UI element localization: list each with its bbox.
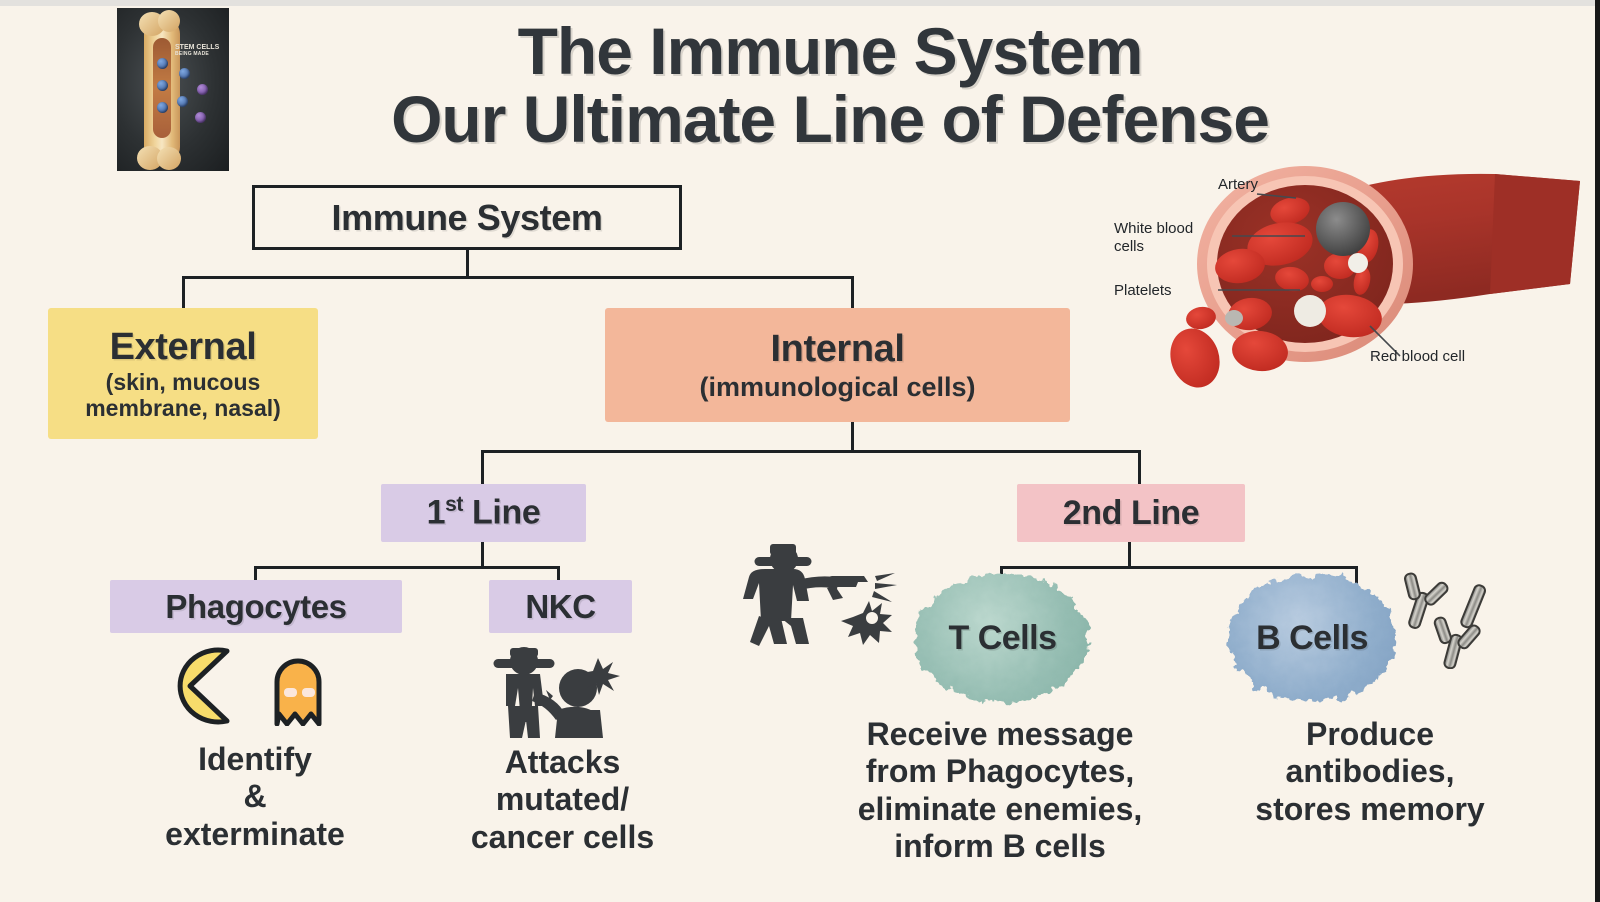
- page-title-line-2: Our Ultimate Line of Defense: [290, 86, 1370, 154]
- connector-to-first-line: [481, 450, 484, 486]
- caption-line: cancer cells: [440, 819, 685, 856]
- connector-second-line-drop: [1128, 542, 1131, 568]
- right-border-strip: [1595, 0, 1600, 902]
- connector-to-internal: [851, 276, 854, 310]
- node-internal[interactable]: Internal (immunological cells): [605, 308, 1070, 422]
- node-immune-system[interactable]: Immune System: [252, 185, 682, 250]
- caption-line: &: [110, 778, 400, 815]
- first-line-word: Line: [463, 494, 540, 532]
- caption-line: mutated/: [440, 781, 685, 818]
- stem-cells-caption: STEM CELLS BEING MADE: [175, 44, 227, 58]
- stem-cell-dot: [177, 96, 188, 107]
- node-t-cells[interactable]: T Cells: [915, 574, 1090, 702]
- node-first-line[interactable]: 1st Line: [381, 484, 586, 542]
- vessel-label-artery: Artery: [1218, 176, 1258, 194]
- node-phagocytes[interactable]: Phagocytes: [110, 580, 402, 633]
- infographic-canvas: STEM CELLS BEING MADE The Immune System …: [0, 6, 1595, 902]
- stem-cell-dot: [157, 80, 168, 91]
- caption-line: eliminate enemies,: [830, 791, 1170, 828]
- caption-line: Attacks: [440, 744, 685, 781]
- node-b-cells[interactable]: B Cells: [1228, 574, 1396, 702]
- node-immune-system-label: Immune System: [332, 197, 603, 239]
- stem-cells-caption-text: STEM CELLS: [175, 44, 219, 51]
- caption-line: Receive message: [830, 716, 1170, 753]
- blood-vessel-illustration: Artery White blood cells Platelets Red b…: [1100, 166, 1595, 416]
- node-external[interactable]: External (skin, mucous membrane, nasal): [48, 308, 318, 439]
- antibody-icon: [1395, 564, 1525, 669]
- node-second-line-label: 2nd Line: [1063, 494, 1200, 533]
- node-external-sublabel: (skin, mucous membrane, nasal): [48, 370, 318, 422]
- stem-cell-dot: [197, 84, 208, 95]
- connector-first-line-bar: [254, 566, 560, 569]
- node-nkc-label: NKC: [525, 588, 595, 626]
- caption-phagocytes: Identify & exterminate: [110, 741, 400, 853]
- page-title: The Immune System Our Ultimate Line of D…: [290, 18, 1370, 154]
- node-external-label: External: [110, 326, 257, 369]
- connector-root-drop: [466, 250, 469, 278]
- shooter-silhouette-icon: [735, 536, 905, 646]
- node-internal-label: Internal: [770, 328, 904, 371]
- caption-line: inform B cells: [830, 828, 1170, 865]
- node-first-line-label: 1st Line: [427, 493, 541, 532]
- first-line-ordinal-suffix: st: [445, 493, 463, 516]
- caption-line: Identify: [110, 741, 400, 778]
- connector-to-second-line: [1138, 450, 1141, 486]
- connector-second-line-bar: [1000, 566, 1358, 569]
- caption-nkc: Attacks mutated/ cancer cells: [440, 744, 685, 856]
- connector-root-bar: [182, 276, 854, 279]
- node-second-line[interactable]: 2nd Line: [1017, 484, 1245, 542]
- caption-line: from Phagocytes,: [830, 753, 1170, 790]
- connector-first-line-drop: [481, 542, 484, 568]
- connector-internal-drop: [851, 422, 854, 452]
- node-nkc[interactable]: NKC: [489, 580, 632, 633]
- fighting-figures-icon: [480, 644, 630, 744]
- caption-line: exterminate: [110, 816, 400, 853]
- stem-cells-subcaption-text: BEING MADE: [175, 52, 227, 58]
- vessel-label-platelets: Platelets: [1114, 282, 1172, 300]
- artery-svg: [1100, 166, 1595, 416]
- caption-line: antibodies,: [1240, 753, 1500, 790]
- caption-line: Produce: [1240, 716, 1500, 753]
- stem-cell-dot: [157, 102, 168, 113]
- stem-cell-dot: [157, 58, 168, 69]
- stem-cell-dot: [195, 112, 206, 123]
- connector-to-external: [182, 276, 185, 310]
- stem-cell-dot: [179, 68, 190, 79]
- bone-knob: [158, 10, 180, 32]
- bone-knob: [157, 147, 181, 170]
- pacman-ghost-icon: [172, 646, 337, 726]
- node-internal-sublabel: (immunological cells): [699, 372, 975, 402]
- node-phagocytes-label: Phagocytes: [165, 588, 346, 626]
- first-line-numeral: 1: [427, 494, 446, 532]
- vessel-label-white-blood-cells: White blood cells: [1114, 220, 1206, 255]
- caption-t-cells: Receive message from Phagocytes, elimina…: [830, 716, 1170, 866]
- node-t-cells-label: T Cells: [949, 619, 1057, 658]
- node-b-cells-label: B Cells: [1256, 619, 1368, 658]
- page-title-line-1: The Immune System: [518, 14, 1143, 88]
- bone-marrow-image: STEM CELLS BEING MADE: [117, 8, 229, 171]
- connector-internal-bar: [481, 450, 1141, 453]
- vessel-label-red-blood-cell: Red blood cell: [1370, 348, 1465, 366]
- caption-b-cells: Produce antibodies, stores memory: [1240, 716, 1500, 828]
- caption-line: stores memory: [1240, 791, 1500, 828]
